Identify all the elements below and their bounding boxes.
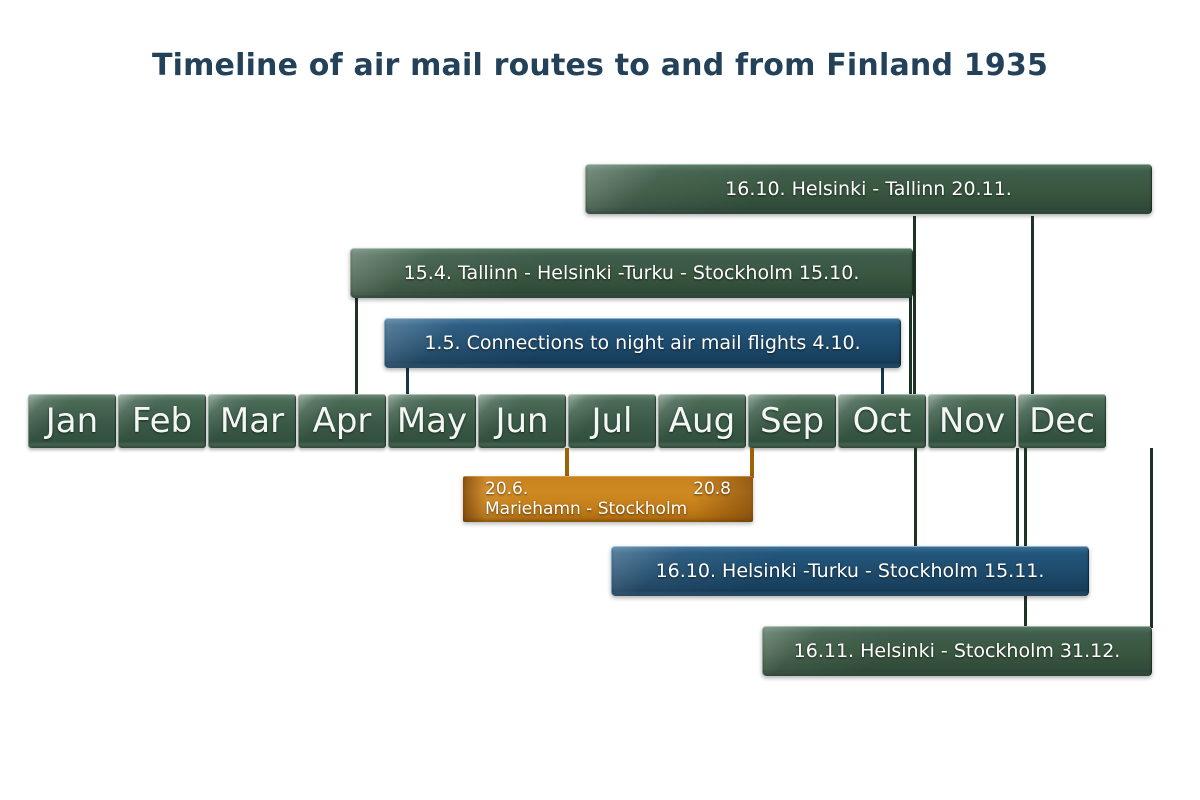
- connector-line-night-flights-end: [881, 366, 884, 396]
- connector-line-helsinki-turku-stockholm-start: [914, 448, 917, 548]
- connector-line-night-flights-start: [406, 366, 409, 396]
- bar-label: 16.10. Helsinki -Turku - Stockholm 15.11…: [656, 562, 1045, 581]
- month-cell-jun[interactable]: Jun: [478, 394, 566, 448]
- bar-start-date: 20.6.: [485, 480, 528, 500]
- bar-tallinn-helsinki-turku-stockholm[interactable]: 15.4. Tallinn - Helsinki -Turku - Stockh…: [350, 248, 913, 298]
- month-cell-jul[interactable]: Jul: [568, 394, 656, 448]
- month-label: Mar: [220, 404, 284, 438]
- timeline-infographic: Timeline of air mail routes to and from …: [0, 0, 1200, 800]
- bar-label: 1.5. Connections to night air mail fligh…: [424, 334, 860, 353]
- month-label: Jan: [46, 404, 98, 438]
- connector-line-mariehamn-end: [750, 448, 754, 478]
- month-axis: Jan Feb Mar Apr May Jun Jul Aug Sep Oct …: [28, 394, 1106, 448]
- connector-line-helsinki-tallinn-start: [913, 216, 916, 396]
- bar-night-air-mail-connections[interactable]: 1.5. Connections to night air mail fligh…: [384, 318, 901, 368]
- bar-label: 16.11. Helsinki - Stockholm 31.12.: [794, 642, 1121, 661]
- month-label: Sep: [760, 404, 824, 438]
- connector-line-helsinki-stockholm-start: [1024, 448, 1027, 628]
- month-label: Nov: [939, 404, 1005, 438]
- month-cell-nov[interactable]: Nov: [928, 394, 1016, 448]
- bar-date-row: 20.6. 20.8: [485, 480, 731, 500]
- connector-line-helsinki-stockholm-end: [1150, 448, 1153, 628]
- connector-line-helsinki-turku-stockholm-end: [1016, 448, 1019, 548]
- bar-label: 15.4. Tallinn - Helsinki -Turku - Stockh…: [404, 264, 860, 283]
- bar-mariehamn-stockholm[interactable]: 20.6. 20.8 Mariehamn - Stockholm: [463, 476, 753, 522]
- month-cell-oct[interactable]: Oct: [838, 394, 926, 448]
- month-cell-may[interactable]: May: [388, 394, 476, 448]
- connector-line-helsinki-tallinn-end: [1031, 216, 1034, 396]
- month-label: May: [397, 404, 467, 438]
- month-label: Feb: [132, 404, 192, 438]
- month-cell-aug[interactable]: Aug: [658, 394, 746, 448]
- month-cell-mar[interactable]: Mar: [208, 394, 296, 448]
- month-cell-sep[interactable]: Sep: [748, 394, 836, 448]
- month-label: Jun: [495, 404, 548, 438]
- bar-label: 16.10. Helsinki - Tallinn 20.11.: [725, 180, 1012, 199]
- bar-helsinki-stockholm[interactable]: 16.11. Helsinki - Stockholm 31.12.: [762, 626, 1152, 676]
- month-label: Dec: [1029, 404, 1095, 438]
- month-cell-dec[interactable]: Dec: [1018, 394, 1106, 448]
- page-title: Timeline of air mail routes to and from …: [0, 48, 1200, 83]
- connector-line-tallinn-stockholm-start: [355, 292, 358, 396]
- month-label: Oct: [853, 404, 912, 438]
- connector-line-tallinn-stockholm-end: [909, 292, 912, 396]
- month-cell-jan[interactable]: Jan: [28, 394, 116, 448]
- bar-helsinki-turku-stockholm[interactable]: 16.10. Helsinki -Turku - Stockholm 15.11…: [611, 546, 1089, 596]
- month-label: Apr: [313, 404, 372, 438]
- month-cell-feb[interactable]: Feb: [118, 394, 206, 448]
- connector-line-mariehamn-start: [565, 448, 569, 478]
- month-label: Jul: [591, 404, 632, 438]
- bar-end-date: 20.8: [693, 480, 731, 500]
- month-label: Aug: [669, 404, 735, 438]
- bar-helsinki-tallinn[interactable]: 16.10. Helsinki - Tallinn 20.11.: [585, 164, 1152, 214]
- month-cell-apr[interactable]: Apr: [298, 394, 386, 448]
- bar-route-label: Mariehamn - Stockholm: [485, 500, 731, 520]
